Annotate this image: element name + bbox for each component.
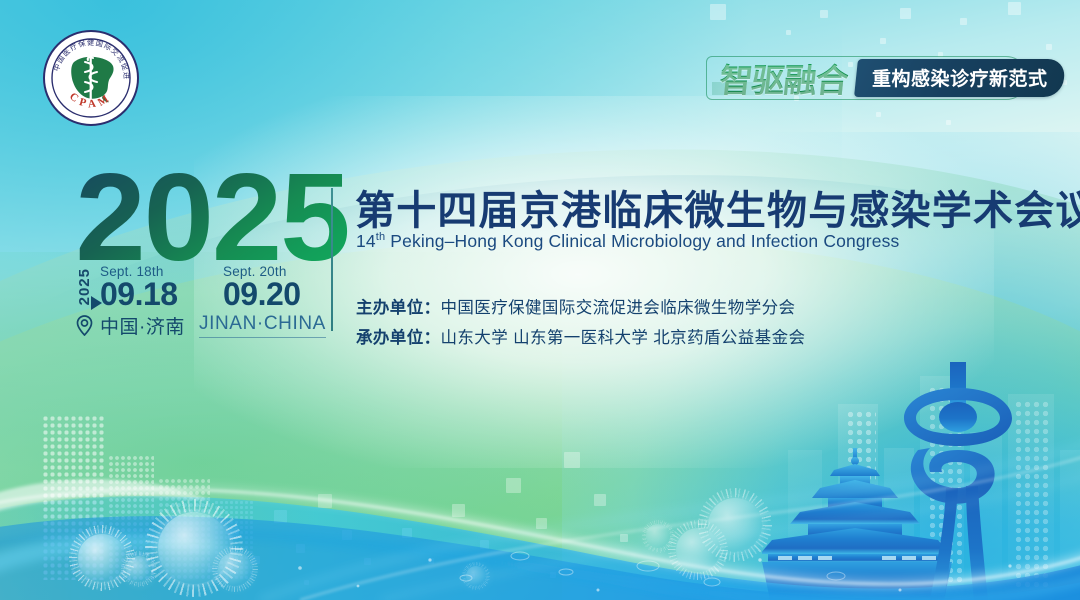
organizer-row-coorganizer: 承办单位：山东大学 山东第一医科大学 北京药盾公益基金会	[356, 324, 805, 348]
slogan-main-text: 智驱融合	[717, 54, 850, 102]
date-end: Sept. 20th 09.20	[223, 264, 301, 312]
organizer-value: 中国医疗保健国际交流促进会临床微生物学分会	[441, 299, 796, 317]
date-range-arrow-icon	[91, 296, 102, 310]
subtitle-rest: Peking–Hong Kong Clinical Microbiology a…	[385, 231, 899, 251]
date-start-large: 09.18	[100, 277, 178, 312]
map-pin-icon	[76, 315, 93, 336]
subtitle-prefix: 14	[356, 231, 376, 251]
date-end-large: 09.20	[223, 277, 301, 312]
page-subtitle: 14th Peking–Hong Kong Clinical Microbiol…	[356, 231, 899, 252]
location-cn: 中国·济南	[100, 312, 185, 339]
subtitle-ordinal: th	[376, 231, 385, 243]
cpam-emblem: 中国医疗保健国际交流促进会 CPAM	[41, 28, 141, 128]
location-row: 中国·济南	[76, 312, 185, 339]
slogan-sub-pill: 重构感染诊疗新范式	[854, 59, 1066, 97]
vertical-divider	[331, 188, 333, 331]
location-en: JINAN·CHINA	[199, 313, 326, 338]
organizer-label: 主办单位：	[356, 299, 441, 317]
organizer-value: 山东大学 山东第一医科大学 北京药盾公益基金会	[441, 329, 806, 347]
organizer-label: 承办单位：	[356, 329, 441, 347]
year-display: 2025	[75, 166, 348, 270]
date-start: Sept. 18th 09.18	[100, 264, 178, 312]
conference-banner: 中国医疗保健国际交流促进会 CPAM 智驱融合 重构感染诊疗新范式 2025 2…	[0, 0, 1080, 600]
page-title: 第十四届京港临床微生物与感染学术会议	[355, 178, 1080, 236]
slogan-sub-text: 重构感染诊疗新范式	[872, 64, 1048, 91]
slogan-badge: 智驱融合 重构感染诊疗新范式	[706, 52, 1064, 104]
organizer-row-host: 主办单位：中国医疗保健国际交流促进会临床微生物学分会	[356, 294, 795, 318]
